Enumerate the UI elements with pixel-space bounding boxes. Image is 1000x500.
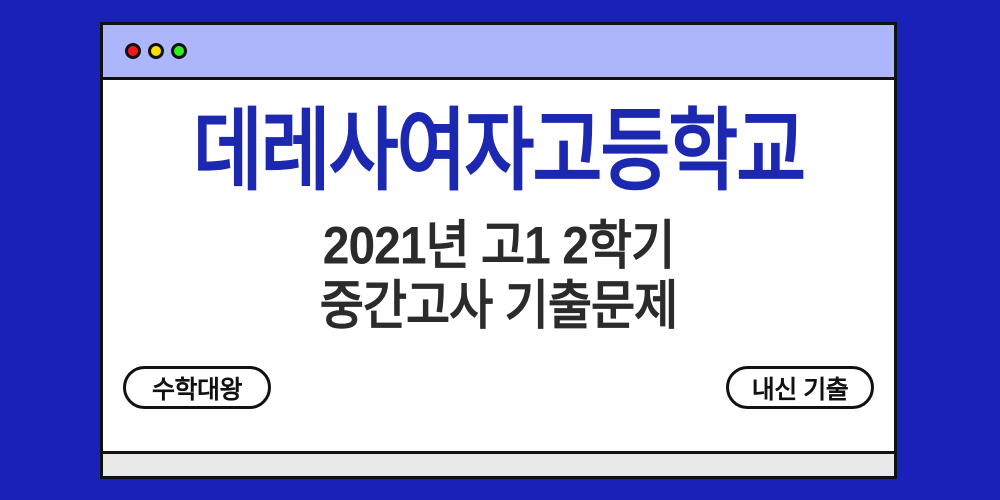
traffic-light-group (125, 43, 187, 59)
exam-subtitle-block: 2021년 고1 2학기 중간고사 기출문제 (320, 217, 678, 336)
window-titlebar (103, 25, 894, 80)
category-badge-right: 내신 기출 (726, 366, 874, 409)
brand-badge-left: 수학대왕 (123, 366, 271, 409)
window-footer-bar (103, 451, 894, 476)
close-window-icon[interactable] (125, 43, 141, 59)
exam-subtitle-line-1: 2021년 고1 2학기 (320, 214, 678, 279)
badge-row: 수학대왕 내신 기출 (103, 366, 894, 409)
window-content: 데레사여자고등학교 2021년 고1 2학기 중간고사 기출문제 수학대왕 내신… (103, 80, 894, 451)
maximize-window-icon[interactable] (171, 43, 187, 59)
exam-subtitle-line-2: 중간고사 기출문제 (320, 274, 678, 339)
browser-window: 데레사여자고등학교 2021년 고1 2학기 중간고사 기출문제 수학대왕 내신… (100, 22, 897, 479)
school-name-title: 데레사여자고등학교 (103, 107, 894, 197)
minimize-window-icon[interactable] (148, 43, 164, 59)
thumbnail-canvas: 데레사여자고등학교 2021년 고1 2학기 중간고사 기출문제 수학대왕 내신… (0, 0, 1000, 500)
heading-block: 데레사여자고등학교 (103, 107, 894, 183)
